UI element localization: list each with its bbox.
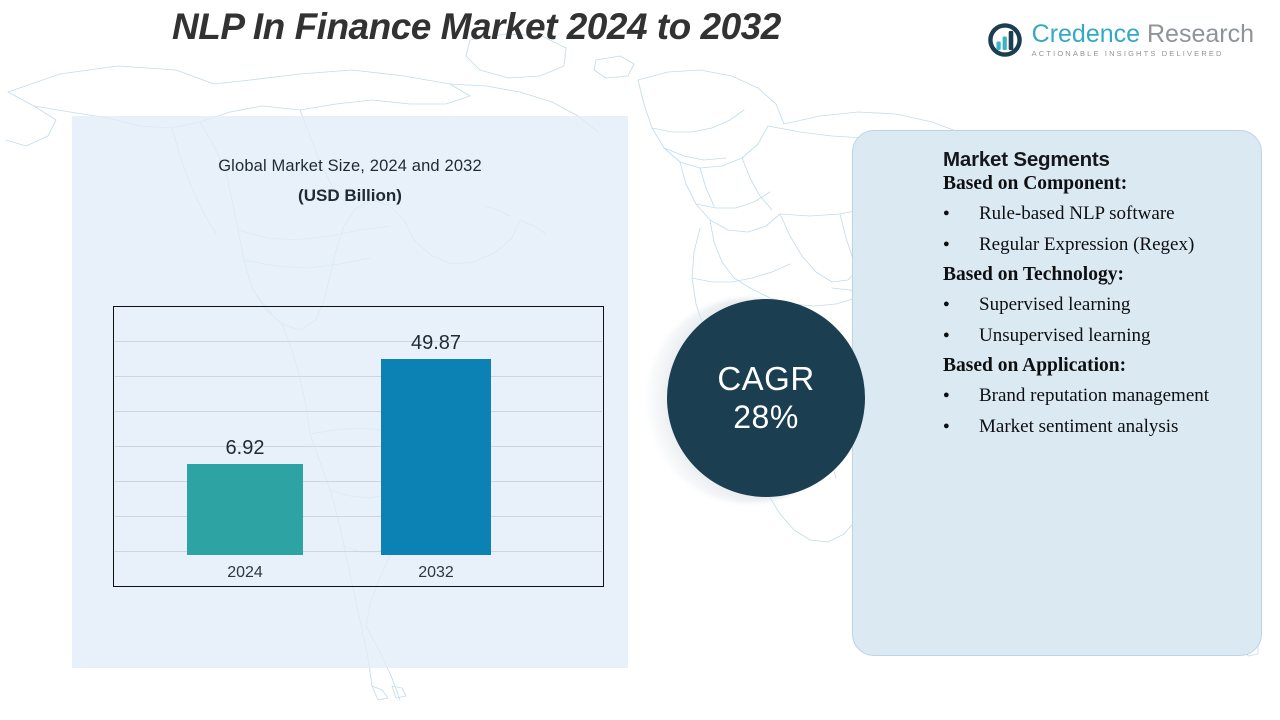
cagr-badge-circle: CAGR 28% <box>667 299 865 497</box>
category-label-2032: 2032 <box>376 564 496 582</box>
brand-tagline: Actionable Insights Delivered <box>1032 49 1254 58</box>
brand-text-block: Credence Research Actionable Insights De… <box>1032 22 1254 59</box>
chart-heading: Global Market Size, 2024 and 2032 (USD B… <box>72 157 628 206</box>
page-title: NLP In Finance Market 2024 to 2032 <box>172 6 952 48</box>
segment-group-heading-application: Based on Application: <box>943 355 1223 377</box>
brand-wordmark: Credence Research <box>1032 22 1254 48</box>
segments-panel-title: Market Segments <box>943 148 1223 172</box>
segment-group-heading-component: Based on Component: <box>943 173 1223 195</box>
brand-name-research: Research <box>1147 20 1254 48</box>
list-item: Rule-based NLP software <box>943 202 1223 226</box>
gridline <box>115 341 602 342</box>
cagr-value: 28% <box>733 399 799 437</box>
cagr-badge: CAGR 28% <box>646 296 876 516</box>
gridline <box>115 411 602 412</box>
segment-group-heading-technology: Based on Technology: <box>943 264 1223 286</box>
chart-heading-unit: (USD Billion) <box>72 186 628 206</box>
market-segments-panel: Market Segments Based on Component: Rule… <box>852 130 1262 656</box>
bar-2024 <box>187 464 303 555</box>
list-item: Regular Expression (Regex) <box>943 233 1223 257</box>
segment-list-technology: Supervised learning Unsupervised learnin… <box>943 293 1223 348</box>
bar-value-2024: 6.92 <box>187 437 303 460</box>
bar-value-2032: 49.87 <box>376 332 496 355</box>
list-item: Brand reputation management <box>943 384 1223 408</box>
bar-chart-circle-icon <box>985 20 1025 60</box>
chart-panel: Global Market Size, 2024 and 2032 (USD B… <box>72 116 628 668</box>
category-label-2024: 2024 <box>187 564 303 582</box>
brand-name-credence: Credence <box>1032 20 1140 48</box>
bar-chart-plot-area: 6.92 49.87 2024 2032 <box>113 306 604 587</box>
list-item: Unsupervised learning <box>943 324 1223 348</box>
chart-heading-primary: Global Market Size, 2024 and 2032 <box>72 157 628 176</box>
infographic-canvas: NLP In Finance Market 2024 to 2032 Crede… <box>0 0 1280 720</box>
list-item: Supervised learning <box>943 293 1223 317</box>
bar-2032 <box>381 359 491 555</box>
cagr-label: CAGR <box>717 360 814 399</box>
list-item: Market sentiment analysis <box>943 415 1223 439</box>
segment-list-component: Rule-based NLP software Regular Expressi… <box>943 202 1223 257</box>
brand-logo[interactable]: Credence Research Actionable Insights De… <box>985 20 1254 60</box>
segment-list-application: Brand reputation management Market senti… <box>943 384 1223 439</box>
gridline <box>115 376 602 377</box>
